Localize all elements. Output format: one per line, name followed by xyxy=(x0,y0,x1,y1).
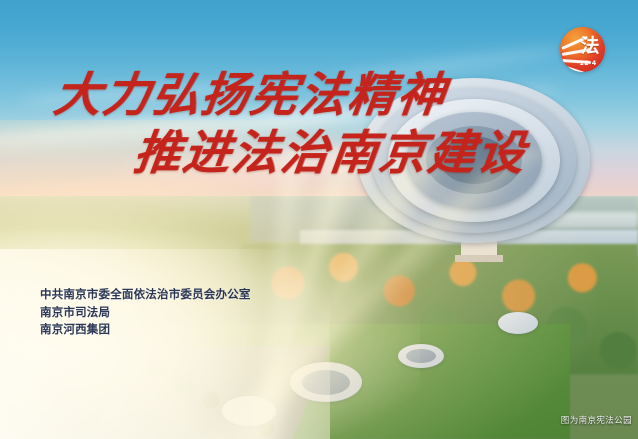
organization-line: 中共南京市委全面依法治市委员会办公室 xyxy=(40,286,251,304)
photo-credit-watermark: 图为南京宪法公园 xyxy=(561,416,632,427)
circular-plaza-inner xyxy=(302,370,350,395)
pagoda-base xyxy=(455,255,503,262)
cloud-streak xyxy=(20,81,280,105)
organization-line: 南京河西集团 xyxy=(40,321,251,339)
building-courtyard-center xyxy=(440,136,508,184)
circular-plaza xyxy=(222,396,276,426)
organization-list: 中共南京市委全面依法治市委员会办公室 南京市司法局 南京河西集团 xyxy=(40,286,251,339)
emblem-date-label: 12·4 xyxy=(576,59,600,67)
circular-plaza-inner xyxy=(406,349,436,363)
organization-line: 南京市司法局 xyxy=(40,304,251,322)
constitution-day-emblem-icon: 法 12·4 xyxy=(560,27,605,72)
constitution-day-poster: 法 12·4 大力弘扬宪法精神 推进法治南京建设 中共南京市委全面依法治市委员会… xyxy=(0,0,638,439)
constitution-park-ring-building xyxy=(358,78,590,243)
cloud-streak xyxy=(0,103,380,152)
roadside-trees xyxy=(140,352,310,438)
circular-plaza xyxy=(498,312,538,334)
emblem-fa-character: 法 xyxy=(579,34,601,58)
